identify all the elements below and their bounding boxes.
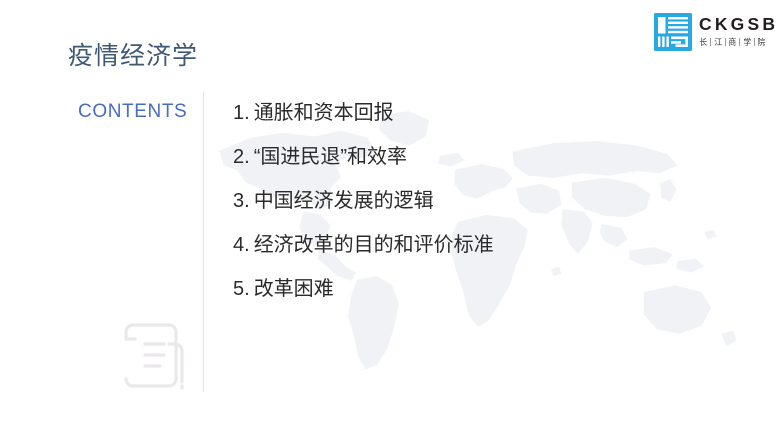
contents-list: 1. 通胀和资本回报 2. “国进民退”和效率 3. 中国经济发展的逻辑 4. … xyxy=(233,96,733,316)
ckgsb-logo: CKGSB 长 江 商 学 院 xyxy=(654,13,776,51)
logo-wordmark: CKGSB xyxy=(699,14,776,34)
logo-text-block: CKGSB 长 江 商 学 院 xyxy=(699,13,776,47)
list-item[interactable]: 5. 改革困难 xyxy=(233,272,733,316)
logo-cn-char-1: 江 xyxy=(714,37,722,47)
list-item-label: “国进民退”和效率 xyxy=(254,140,407,169)
list-item[interactable]: 1. 通胀和资本回报 xyxy=(233,96,733,140)
slide-canvas: 疫情经济学 CKGSB 长 江 xyxy=(0,0,776,426)
list-item[interactable]: 4. 经济改革的目的和评价标准 xyxy=(233,228,733,272)
contents-label: CONTENTS xyxy=(78,101,187,123)
list-item-label: 通胀和资本回报 xyxy=(254,96,394,125)
logo-cn-separator xyxy=(725,38,726,46)
logo-cn-char-4: 院 xyxy=(757,37,765,47)
page-title: 疫情经济学 xyxy=(68,36,198,72)
logo-cn-separator xyxy=(739,38,740,46)
list-item[interactable]: 2. “国进民退”和效率 xyxy=(233,140,733,184)
logo-chinese-name: 长 江 商 学 院 xyxy=(699,36,776,47)
ckgsb-book-mark-icon xyxy=(654,13,692,51)
logo-cn-char-3: 学 xyxy=(743,37,751,47)
list-item-number: 2. xyxy=(233,146,250,169)
logo-cn-char-2: 商 xyxy=(728,37,736,47)
list-item-label: 改革困难 xyxy=(254,272,334,301)
list-item-number: 3. xyxy=(233,190,250,213)
list-item[interactable]: 3. 中国经济发展的逻辑 xyxy=(233,184,733,228)
logo-cn-separator xyxy=(710,38,711,46)
logo-cn-separator xyxy=(754,38,755,46)
list-item-number: 4. xyxy=(233,234,250,257)
list-item-number: 1. xyxy=(233,102,250,125)
list-item-number: 5. xyxy=(233,278,250,301)
logo-cn-char-0: 长 xyxy=(699,37,707,47)
list-item-label: 经济改革的目的和评价标准 xyxy=(254,228,494,257)
vertical-divider xyxy=(203,92,204,392)
document-scroll-watermark-icon xyxy=(112,316,192,394)
list-item-label: 中国经济发展的逻辑 xyxy=(254,184,434,213)
